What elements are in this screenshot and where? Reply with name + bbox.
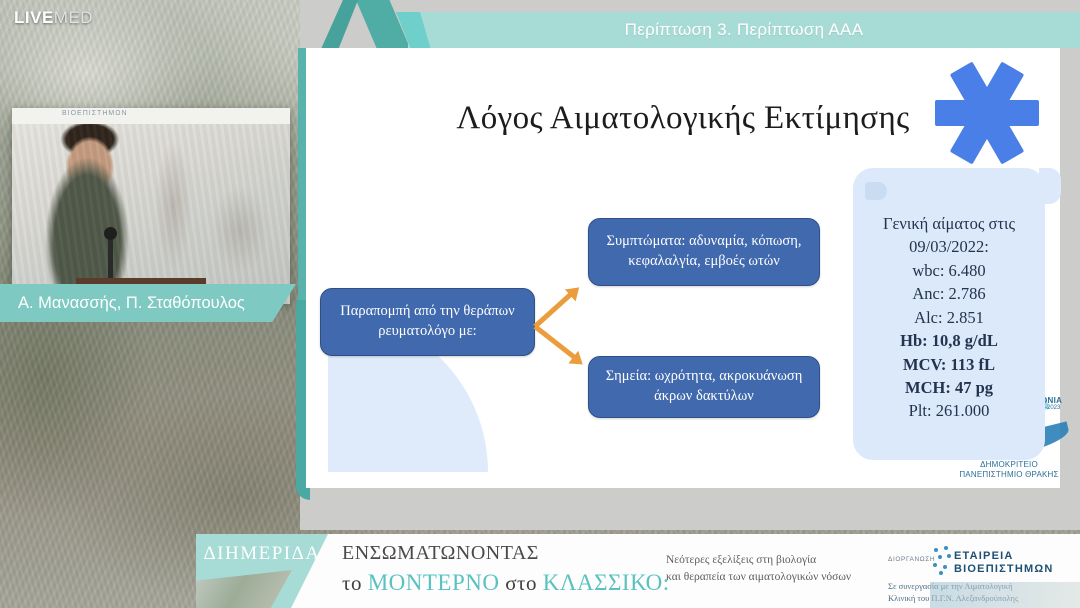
event-banner: ΔΙΗΜΕΡΙΔΑ ΕΝΣΩΜΑΤΩΝΟΝΤΑΣ το ΜΟΝΤΕΡΝΟ στο… (196, 534, 1080, 608)
university-name-line1: ΔΗΜΟΚΡΙΤΕΙΟ (944, 460, 1074, 470)
flow-box-referral-label: Παραπομπή από την θεράπων ρευματολόγο με… (331, 302, 524, 341)
event-banner-line1: ΕΝΣΩΜΑΤΩΝΟΝΤΑΣ (342, 542, 539, 565)
livemed-logo-med: MED (54, 8, 93, 27)
arrow-to-symptoms (533, 293, 572, 329)
organizer-name-line1: ΕΤΑΙΡΕΙΑ (954, 550, 1053, 563)
lab-row: MCH: 47 pg (861, 376, 1037, 399)
event-banner-line2-d: ΚΛΑΣΣΙΚΟ: (543, 570, 670, 595)
event-banner-subtitle-line1: Νεότερες εξελίξεις στη βιολογία (666, 552, 926, 569)
event-banner-subtitle-line2: και θεραπεία των αιματολογικών νόσων (666, 569, 926, 586)
flow-box-referral: Παραπομπή από την θεράπων ρευματολόγο με… (320, 288, 535, 356)
lab-row: wbc: 6.480 (861, 259, 1037, 282)
lab-card-heading-line1: Γενική αίματος στις (861, 212, 1037, 235)
organizer-name: ΕΤΑΙΡΕΙΑ ΒΙΟΕΠΙΣΤΗΜΩΝ (954, 550, 1053, 577)
speaker-video-backdrop-strip: ΒΙΟΕΠΙΣΤΗΜΩΝ (12, 108, 290, 124)
event-banner-kicker: ΔΙΗΜΕΡΙΔΑ (196, 534, 328, 608)
lab-results-card: Γενική αίματος στις 09/03/2022: wbc: 6.4… (853, 168, 1045, 460)
livemed-logo: LIVEMED (14, 8, 93, 28)
slide-title: Λόγος Αιματολογικής Εκτίμησης (306, 100, 1060, 137)
lab-row: Anc: 2.786 (861, 282, 1037, 305)
flow-box-signs: Σημεία: ωχρότητα, ακροκυάνωση άκρων δακτ… (588, 356, 820, 418)
flow-box-symptoms: Συμπτώματα: αδυναμία, κόπωση, κεφαλαλγία… (588, 218, 820, 286)
event-banner-line2-b: ΜΟΝΤΕΡΝΟ (368, 570, 500, 595)
speaker-name-bar: Α. Μανασσής, Π. Σταθόπουλος (0, 284, 296, 322)
livemed-logo-live: LIVE (14, 8, 54, 27)
event-banner-swoosh (930, 582, 1080, 608)
organizer-label: ΔΙΟΡΓΑΝΩΣΗ (888, 556, 935, 563)
event-banner-line2: το ΜΟΝΤΕΡΝΟ στο ΚΛΑΣΣΙΚΟ: (342, 570, 670, 596)
event-banner-line2-a: το (342, 571, 368, 595)
arrow-to-signs (533, 325, 575, 360)
header-title: Περίπτωση 3. Περίπτωση ΑΑΑ (408, 12, 1080, 48)
speaker-video-frame (12, 108, 290, 304)
event-banner-line2-c: στο (499, 571, 542, 595)
speaker-video[interactable]: ΒΙΟΕΠΙΣΤΗΜΩΝ (12, 108, 290, 304)
university-logo-name: ΔΗΜΟΚΡΙΤΕΙΟ ΠΑΝΕΠΙΣΤΗΜΙΟ ΘΡΑΚΗΣ (944, 460, 1074, 481)
lab-row: Plt: 261.000 (861, 399, 1037, 422)
lab-row: Alc: 2.851 (861, 306, 1037, 329)
speaker-name-label: Α. Μανασσής, Π. Σταθόπουλος (18, 294, 245, 313)
lab-card-heading-line2: 09/03/2022: (861, 235, 1037, 258)
screen-root: LIVEMED Περίπτωση 3. Περίπτωση ΑΑΑ Λόγος… (0, 0, 1080, 608)
lab-card-tab (1039, 168, 1061, 204)
lab-row: MCV: 113 fL (861, 353, 1037, 376)
event-banner-kicker-label: ΔΙΗΜΕΡΙΔΑ (203, 543, 320, 565)
university-name-line2: ΠΑΝΕΠΙΣΤΗΜΙΟ ΘΡΑΚΗΣ (944, 470, 1074, 480)
organizer-name-line2: ΒΙΟΕΠΙΣΤΗΜΩΝ (954, 563, 1053, 576)
flow-box-signs-label: Σημεία: ωχρότητα, ακροκυάνωση άκρων δακτ… (599, 367, 809, 406)
flow-box-symptoms-label: Συμπτώματα: αδυναμία, κόπωση, κεφαλαλγία… (599, 232, 809, 271)
lab-row: Hb: 10,8 g/dL (861, 329, 1037, 352)
event-banner-subtitle: Νεότερες εξελίξεις στη βιολογία και θερα… (666, 552, 926, 587)
dna-icon (932, 546, 952, 574)
